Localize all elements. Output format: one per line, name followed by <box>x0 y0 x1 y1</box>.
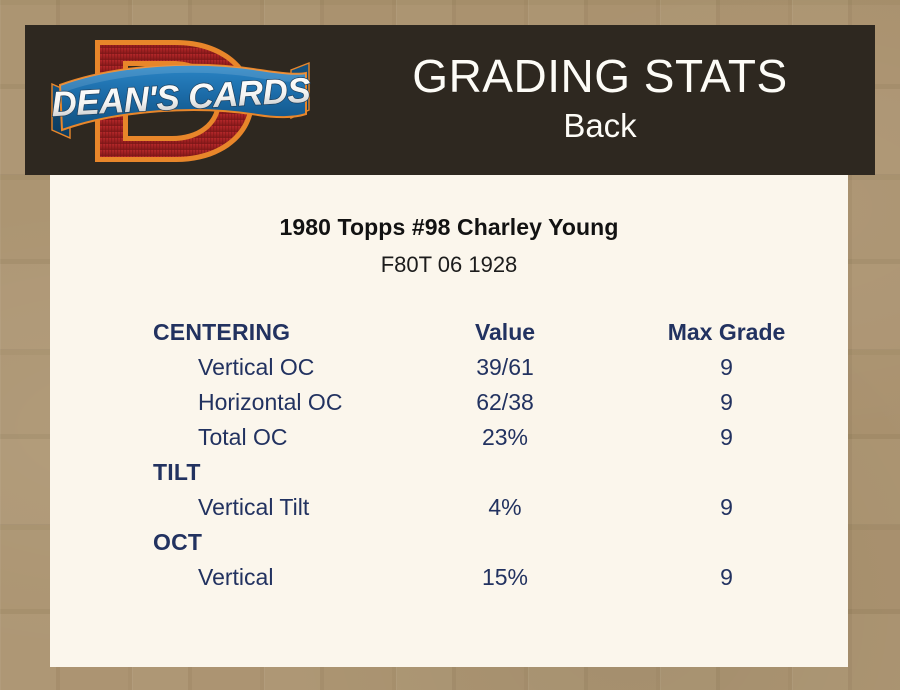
section-heading: OCT <box>50 525 405 560</box>
stat-max-grade: 9 <box>605 490 848 525</box>
stat-max-grade: 9 <box>605 385 848 420</box>
stat-value: 62/38 <box>405 385 605 420</box>
stat-label: Horizontal OC <box>50 385 405 420</box>
table-row: Horizontal OC62/389 <box>50 385 848 420</box>
section-header-row: CENTERINGValueMax Grade <box>50 315 848 350</box>
grading-stats-table: CENTERINGValueMax GradeVertical OC39/619… <box>50 315 848 595</box>
stat-value: 23% <box>405 420 605 455</box>
stat-label: Total OC <box>50 420 405 455</box>
content-panel: 1980 Topps #98 Charley Young F80T 06 192… <box>50 175 848 667</box>
section-header-row: OCT <box>50 525 848 560</box>
section-header-spacer <box>605 525 848 560</box>
stat-value: 39/61 <box>405 350 605 385</box>
stat-label: Vertical Tilt <box>50 490 405 525</box>
table-row: Vertical Tilt4%9 <box>50 490 848 525</box>
card-subtitle: F80T 06 1928 <box>50 252 848 278</box>
stat-value: 15% <box>405 560 605 595</box>
stat-value: 4% <box>405 490 605 525</box>
stat-max-grade: 9 <box>605 560 848 595</box>
header-bar: DEAN'S CARDS GRADING STATS Back <box>25 25 875 175</box>
section-header-spacer <box>405 455 605 490</box>
table-row: Vertical OC39/619 <box>50 350 848 385</box>
header-title-block: GRADING STATS Back <box>325 25 875 175</box>
page-title: GRADING STATS <box>412 52 787 100</box>
card-title: 1980 Topps #98 Charley Young <box>50 214 848 241</box>
deans-cards-logo[interactable]: DEAN'S CARDS <box>48 30 313 172</box>
section-heading: CENTERING <box>50 315 405 350</box>
stat-label: Vertical <box>50 560 405 595</box>
section-heading: TILT <box>50 455 405 490</box>
column-header-max-grade: Max Grade <box>605 315 848 350</box>
stat-max-grade: 9 <box>605 420 848 455</box>
column-header-value: Value <box>405 315 605 350</box>
section-header-row: TILT <box>50 455 848 490</box>
section-header-spacer <box>605 455 848 490</box>
stat-max-grade: 9 <box>605 350 848 385</box>
table-row: Vertical15%9 <box>50 560 848 595</box>
stat-label: Vertical OC <box>50 350 405 385</box>
section-header-spacer <box>405 525 605 560</box>
page-subtitle: Back <box>563 104 636 149</box>
table-row: Total OC23%9 <box>50 420 848 455</box>
